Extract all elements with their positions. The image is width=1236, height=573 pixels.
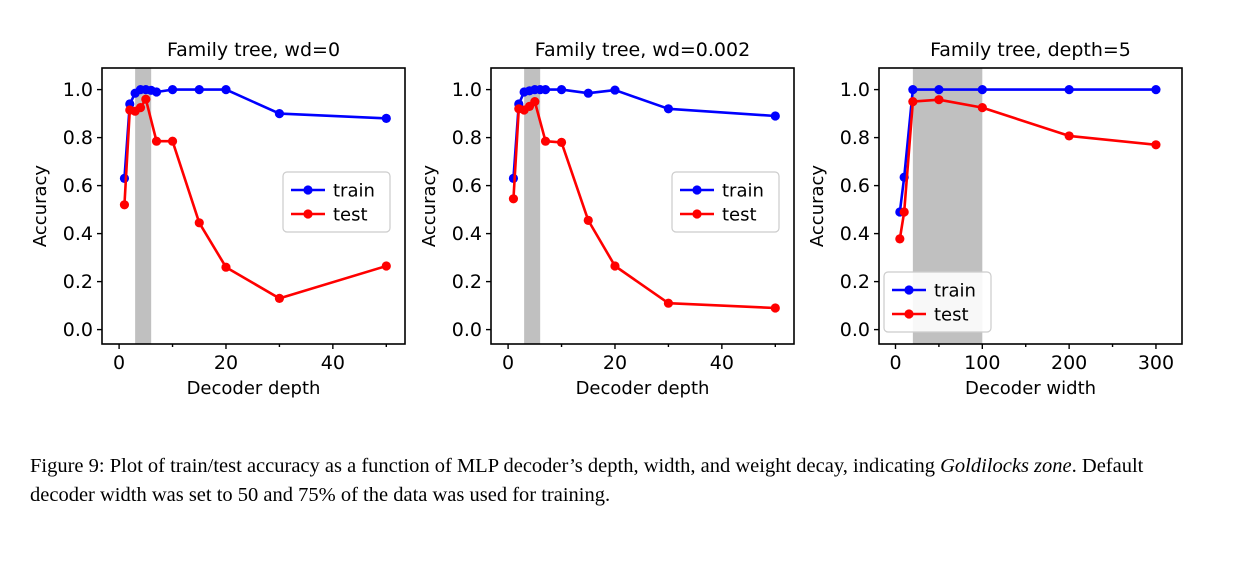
y-tick-label: 0.4 — [63, 223, 93, 245]
y-tick-label: 0.6 — [840, 175, 870, 197]
x-tick-label: 0 — [889, 352, 901, 374]
legend-marker-test — [303, 209, 312, 218]
data-point-test — [557, 138, 566, 147]
legend-label-test: test — [722, 205, 757, 226]
data-point-test — [221, 263, 230, 272]
y-tick-label: 1.0 — [840, 79, 870, 101]
legend-marker-train — [692, 185, 701, 194]
data-point-train — [382, 114, 391, 123]
y-tick-label: 0.8 — [63, 127, 93, 149]
legend-label-train: train — [934, 281, 976, 302]
data-point-train — [221, 85, 230, 94]
data-point-train — [152, 87, 161, 96]
y-tick-label: 0.8 — [452, 127, 482, 149]
data-point-test — [275, 294, 284, 303]
panel-3: Family tree, depth=50.00.20.40.60.81.001… — [807, 39, 1182, 399]
legend-label-test: test — [333, 205, 368, 226]
data-point-test — [610, 261, 619, 270]
series-line-train — [513, 90, 775, 179]
data-point-test — [168, 137, 177, 146]
data-point-train — [664, 104, 673, 113]
x-tick-label: 300 — [1138, 352, 1174, 374]
panel-title: Family tree, depth=5 — [930, 39, 1131, 61]
data-point-train — [1151, 85, 1160, 94]
y-tick-label: 0.2 — [840, 271, 870, 293]
panel-title: Family tree, wd=0.002 — [535, 39, 750, 61]
data-point-test — [584, 216, 593, 225]
data-point-test — [1151, 140, 1160, 149]
data-point-train — [195, 85, 204, 94]
data-point-test — [908, 97, 917, 106]
data-point-train — [978, 85, 987, 94]
x-tick-label: 40 — [710, 352, 734, 374]
data-point-test — [978, 103, 987, 112]
y-axis-label: Accuracy — [807, 165, 828, 248]
data-point-test — [152, 137, 161, 146]
x-axis-label: Decoder width — [965, 378, 1096, 399]
legend: traintest — [283, 172, 390, 232]
x-tick-label: 20 — [603, 352, 627, 374]
panel-1: Family tree, wd=00.00.20.40.60.81.002040… — [30, 39, 405, 399]
data-point-test — [509, 194, 518, 203]
legend-marker-test — [904, 309, 913, 318]
y-tick-label: 1.0 — [63, 79, 93, 101]
series-line-train — [124, 90, 386, 179]
data-point-train — [557, 85, 566, 94]
data-point-test — [530, 97, 539, 106]
legend-label-test: test — [934, 305, 969, 326]
y-tick-label: 0.6 — [452, 175, 482, 197]
y-axis-label: Accuracy — [419, 165, 440, 248]
y-tick-label: 0.6 — [63, 175, 93, 197]
data-point-test — [900, 207, 909, 216]
x-axis-label: Decoder depth — [187, 378, 321, 399]
x-tick-label: 40 — [321, 352, 345, 374]
data-point-train — [771, 111, 780, 120]
legend: traintest — [672, 172, 779, 232]
data-point-test — [664, 299, 673, 308]
panel-title: Family tree, wd=0 — [167, 39, 340, 61]
data-point-test — [141, 95, 150, 104]
y-tick-label: 1.0 — [452, 79, 482, 101]
y-tick-label: 0.2 — [452, 271, 482, 293]
data-point-test — [934, 95, 943, 104]
legend-marker-test — [692, 209, 701, 218]
legend-label-train: train — [333, 181, 375, 202]
data-point-test — [541, 137, 550, 146]
data-point-train — [610, 85, 619, 94]
data-point-train — [908, 85, 917, 94]
x-tick-label: 100 — [964, 352, 1000, 374]
legend-marker-train — [303, 185, 312, 194]
data-point-train — [168, 85, 177, 94]
y-axis-label: Accuracy — [30, 165, 51, 248]
data-point-train — [275, 109, 284, 118]
x-tick-label: 0 — [113, 352, 125, 374]
y-tick-label: 0.0 — [452, 319, 482, 341]
data-point-test — [895, 234, 904, 243]
panel-2: Family tree, wd=0.0020.00.20.40.60.81.00… — [419, 39, 794, 399]
data-point-test — [771, 303, 780, 312]
data-point-test — [1065, 131, 1074, 140]
data-point-train — [584, 89, 593, 98]
y-tick-label: 0.4 — [840, 223, 870, 245]
legend: traintest — [884, 272, 991, 332]
y-tick-label: 0.4 — [452, 223, 482, 245]
x-tick-label: 20 — [214, 352, 238, 374]
figure-caption: Figure 9: Plot of train/test accuracy as… — [30, 452, 1210, 510]
x-tick-label: 200 — [1051, 352, 1087, 374]
caption-text-part-1: Plot of train/test accuracy as a functio… — [105, 455, 941, 477]
data-point-test — [120, 200, 129, 209]
data-point-test — [195, 218, 204, 227]
x-axis-label: Decoder depth — [576, 378, 710, 399]
data-point-test — [136, 103, 145, 112]
legend-marker-train — [904, 285, 913, 294]
legend-label-train: train — [722, 181, 764, 202]
data-point-train — [1065, 85, 1074, 94]
figure-canvas: Family tree, wd=00.00.20.40.60.81.002040… — [0, 0, 1236, 420]
y-tick-label: 0.0 — [63, 319, 93, 341]
y-tick-label: 0.2 — [63, 271, 93, 293]
y-tick-label: 0.0 — [840, 319, 870, 341]
caption-figure-number: Figure 9: — [30, 455, 105, 477]
data-point-train — [541, 85, 550, 94]
data-point-test — [382, 261, 391, 270]
y-tick-label: 0.8 — [840, 127, 870, 149]
data-point-train — [120, 174, 129, 183]
x-tick-label: 0 — [502, 352, 514, 374]
data-point-train — [934, 85, 943, 94]
caption-italic-term: Goldilocks zone — [940, 455, 1072, 477]
